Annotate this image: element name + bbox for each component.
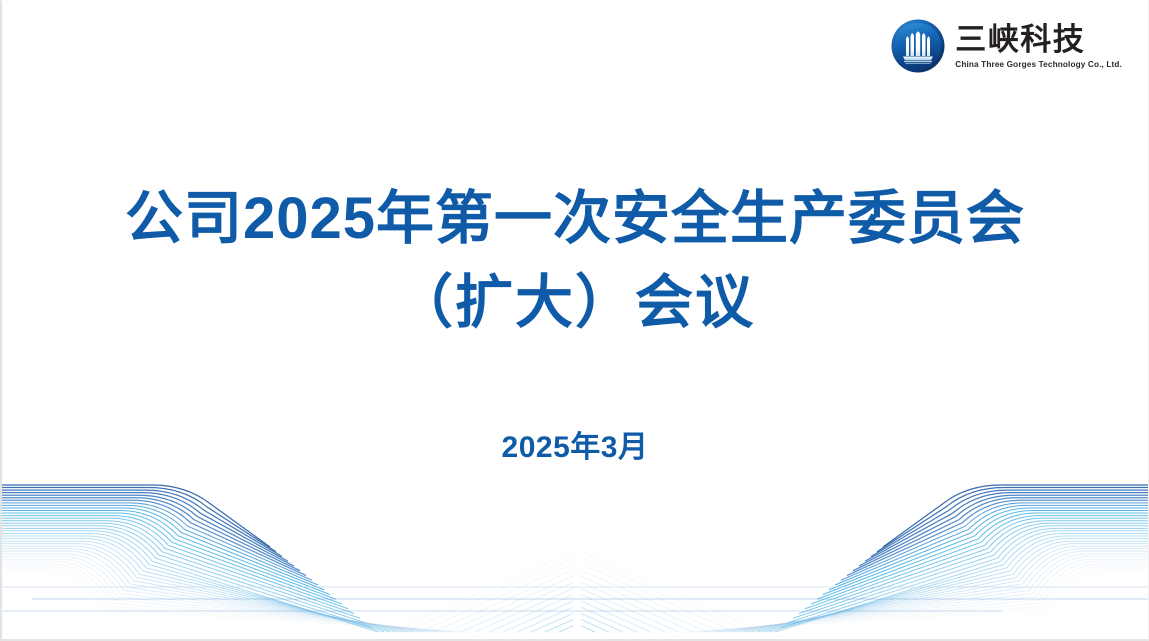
logo-chinese-name: 三峡科技 xyxy=(955,23,1122,56)
slide-title: 公司2025年第一次安全生产委员会 （扩大）会议 xyxy=(2,177,1148,345)
slide-date-subtitle: 2025年3月 xyxy=(2,422,1148,466)
three-gorges-dam-emblem-icon xyxy=(891,19,945,73)
title-line-1: 公司2025年第一次安全生产委员会 xyxy=(2,177,1148,261)
footer-wave-decoration xyxy=(2,474,1149,639)
company-logo: 三峡科技 China Three Gorges Technology Co., … xyxy=(891,19,1122,73)
presentation-slide: 三峡科技 China Three Gorges Technology Co., … xyxy=(0,0,1149,641)
logo-english-name: China Three Gorges Technology Co., Ltd. xyxy=(955,60,1122,70)
title-line-2: （扩大）会议 xyxy=(2,261,1148,345)
logo-wordmark: 三峡科技 China Three Gorges Technology Co., … xyxy=(955,22,1122,69)
